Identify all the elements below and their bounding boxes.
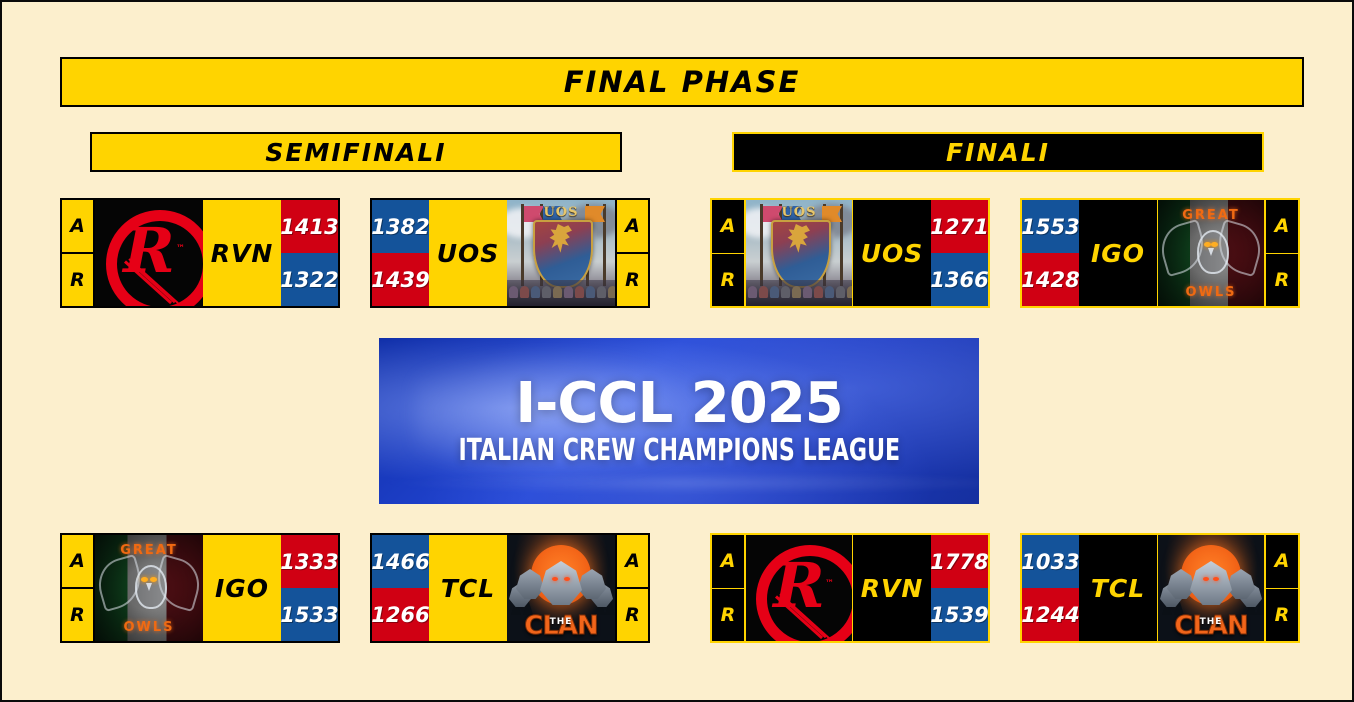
tournament-banner: I-CCL 2025 ITALIAN CREW CHAMPIONS LEAGUE <box>379 338 979 504</box>
score-leg-ritorno: 1428 <box>1022 253 1079 306</box>
andata-label: A <box>617 535 648 589</box>
score-leg-andata: 1466 <box>372 535 429 588</box>
andata-ritorno-column: AR <box>62 200 95 306</box>
team-logo-panel: UOS <box>745 200 853 306</box>
uos-shield-logo: UOS <box>507 200 615 306</box>
match-card[interactable]: 14661266TCLCLANTHEAR <box>370 533 650 643</box>
score-leg-ritorno: 1322 <box>281 253 338 306</box>
team-logo-panel: CLANTHE <box>1157 535 1265 641</box>
score-column: 12711366 <box>931 200 988 306</box>
bracket-page: FINAL PHASE SEMIFINALI FINALI ARR™RVN141… <box>0 0 1354 702</box>
team-tag: RVN <box>203 200 281 306</box>
team-tag: IGO <box>1079 200 1157 306</box>
score-leg-andata: 1413 <box>281 200 338 253</box>
score-leg-ritorno: 1539 <box>931 588 988 641</box>
score-leg-andata: 1333 <box>281 535 338 588</box>
team-logo-panel: CLANTHE <box>507 535 615 641</box>
match-card[interactable]: ARR™RVN17781539 <box>710 533 990 643</box>
team-tag: UOS <box>429 200 507 306</box>
team-tag: UOS <box>853 200 931 306</box>
ritorno-label: R <box>617 254 648 306</box>
score-leg-ritorno: 1244 <box>1022 588 1079 641</box>
score-column: 17781539 <box>931 535 988 641</box>
ritorno-label: R <box>617 589 648 641</box>
great-owls-logo: GREATOWLS <box>95 535 203 641</box>
andata-label: A <box>62 535 93 589</box>
ritorno-label: R <box>1266 589 1298 642</box>
andata-label: A <box>62 200 93 254</box>
andata-label: A <box>712 535 744 589</box>
score-leg-ritorno: 1266 <box>372 588 429 641</box>
banner-title: I-CCL 2025 <box>515 376 842 432</box>
great-owls-logo: GREATOWLS <box>1158 200 1264 306</box>
score-column: 10331244 <box>1022 535 1079 641</box>
team-tag: TCL <box>1079 535 1157 641</box>
andata-label: A <box>1266 535 1298 589</box>
andata-ritorno-column: AR <box>712 200 745 306</box>
score-column: 13821439 <box>372 200 429 306</box>
score-leg-ritorno: 1439 <box>372 253 429 306</box>
score-leg-andata: 1778 <box>931 535 988 588</box>
uos-shield-logo: UOS <box>746 200 852 306</box>
score-leg-andata: 1553 <box>1022 200 1079 253</box>
match-card[interactable]: ARUOSUOS12711366 <box>710 198 990 308</box>
score-leg-andata: 1382 <box>372 200 429 253</box>
team-logo-panel: R™ <box>745 535 853 641</box>
andata-ritorno-column: AR <box>615 535 648 641</box>
ritorno-label: R <box>62 254 93 306</box>
section-header-finali: FINALI <box>732 132 1264 172</box>
rvn-logo: R™ <box>746 535 852 641</box>
score-leg-ritorno: 1533 <box>281 588 338 641</box>
team-logo-panel: GREATOWLS <box>95 535 203 641</box>
the-clan-logo: CLANTHE <box>507 535 615 641</box>
banner-crowd-blur <box>379 472 979 494</box>
section-header-semifinali: SEMIFINALI <box>90 132 622 172</box>
ritorno-label: R <box>1266 254 1298 307</box>
score-column: 15531428 <box>1022 200 1079 306</box>
score-leg-andata: 1271 <box>931 200 988 253</box>
score-column: 13331533 <box>281 535 338 641</box>
andata-ritorno-column: AR <box>615 200 648 306</box>
andata-label: A <box>712 200 744 254</box>
team-tag: IGO <box>203 535 281 641</box>
team-tag: TCL <box>429 535 507 641</box>
andata-ritorno-column: AR <box>1265 200 1298 306</box>
match-card[interactable]: ARR™RVN14131322 <box>60 198 340 308</box>
andata-ritorno-column: AR <box>712 535 745 641</box>
team-tag: RVN <box>853 535 931 641</box>
andata-label: A <box>617 200 648 254</box>
ritorno-label: R <box>62 589 93 641</box>
andata-ritorno-column: AR <box>1265 535 1298 641</box>
match-card[interactable]: 13821439UOSUOSAR <box>370 198 650 308</box>
score-column: 14661266 <box>372 535 429 641</box>
rvn-logo: R™ <box>95 200 203 306</box>
team-logo-panel: GREATOWLS <box>1157 200 1265 306</box>
andata-ritorno-column: AR <box>62 535 95 641</box>
score-leg-andata: 1033 <box>1022 535 1079 588</box>
ritorno-label: R <box>712 589 744 642</box>
score-leg-ritorno: 1366 <box>931 253 988 306</box>
team-logo-panel: R™ <box>95 200 203 306</box>
banner-subtitle: ITALIAN CREW CHAMPIONS LEAGUE <box>458 436 900 466</box>
match-card[interactable]: 15531428IGOGREATOWLSAR <box>1020 198 1300 308</box>
score-column: 14131322 <box>281 200 338 306</box>
the-clan-logo: CLANTHE <box>1158 535 1264 641</box>
page-title: FINAL PHASE <box>60 57 1304 107</box>
match-card[interactable]: ARGREATOWLSIGO13331533 <box>60 533 340 643</box>
match-card[interactable]: 10331244TCLCLANTHEAR <box>1020 533 1300 643</box>
team-logo-panel: UOS <box>507 200 615 306</box>
andata-label: A <box>1266 200 1298 254</box>
ritorno-label: R <box>712 254 744 307</box>
